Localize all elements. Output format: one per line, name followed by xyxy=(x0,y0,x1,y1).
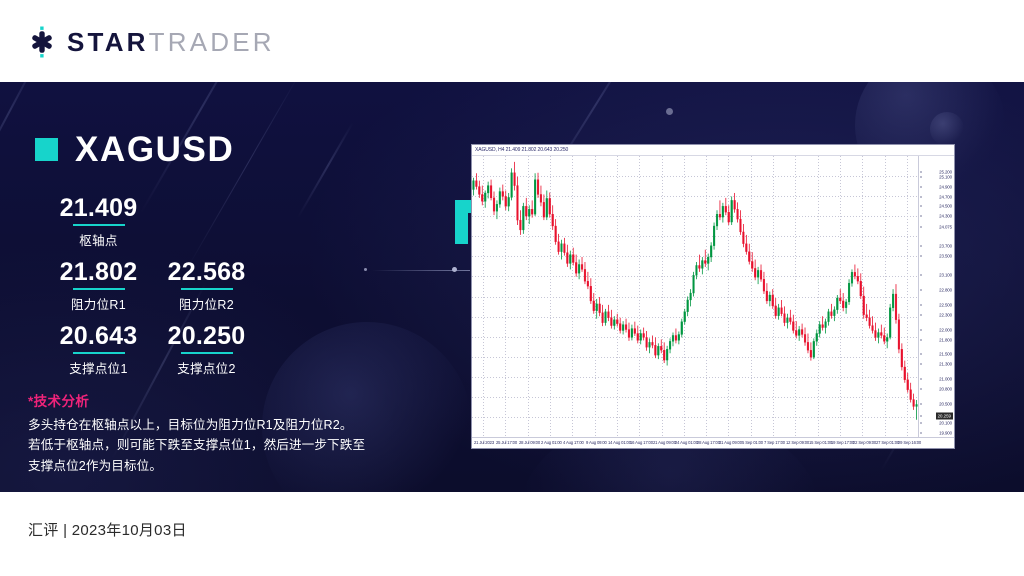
brand-name-light: TRADER xyxy=(149,27,275,57)
price-tick: 21.000 xyxy=(939,376,952,381)
chart-time-axis[interactable]: 21 Jul 202325 Jul 17:0028 Jul 09:002 Aug… xyxy=(472,437,954,448)
time-tick: 4 Aug 17:00 xyxy=(563,440,584,446)
price-tick-dash xyxy=(920,339,922,340)
price-tick: 23.500 xyxy=(939,253,952,258)
price-tick: 23.700 xyxy=(939,243,952,248)
price-tick: 22.300 xyxy=(939,312,952,317)
chart-title-bar: XAGUSD, H4 21.409 21.802 20.643 20.250 xyxy=(472,145,954,156)
price-tick-dash xyxy=(920,176,922,177)
instrument-symbol: XAGUSD xyxy=(75,132,234,167)
decor-orb-small xyxy=(930,112,964,146)
time-tick: 29 Sep 16:00 xyxy=(898,440,921,446)
brand-wordmark: STARTRADER xyxy=(67,29,275,55)
time-tick: 15 Sep 01:00 xyxy=(809,440,832,446)
time-tick: 14 Aug 01:00 xyxy=(608,440,631,446)
stat-underline xyxy=(181,288,233,290)
price-tick-dash xyxy=(920,275,922,276)
price-tick-dash xyxy=(920,388,922,389)
analysis-body: 多头持仓在枢轴点以上，目标位为阻力位R1及阻力位R2。 若低于枢轴点，则可能下跌… xyxy=(28,415,400,476)
analysis-line-2: 若低于枢轴点，则可能下跌至支撑点位1，然后进一步下跌至 xyxy=(28,435,400,455)
price-tick: 24.900 xyxy=(939,184,952,189)
price-tick-dash xyxy=(920,206,922,207)
stat-s2-label: 支撑点位2 xyxy=(144,358,269,377)
price-tick: 21.500 xyxy=(939,352,952,357)
price-tick-dash xyxy=(920,403,922,404)
stat-r1-label: 阻力位R1 xyxy=(36,294,161,313)
time-tick: 9 Aug 09:00 xyxy=(586,440,607,446)
stat-underline xyxy=(73,288,125,290)
price-tick-dash xyxy=(920,354,922,355)
stat-r1-value: 21.802 xyxy=(36,259,161,286)
stat-pivot: 21.409 枢轴点 xyxy=(36,195,161,249)
price-tick-dash xyxy=(920,423,922,424)
price-tick-dash xyxy=(920,290,922,291)
brand-name-bold: STAR xyxy=(67,27,149,57)
technical-analysis: *技术分析 多头持仓在枢轴点以上，目标位为阻力位R1及阻力位R2。 若低于枢轴点… xyxy=(28,390,400,476)
price-tick: 20.100 xyxy=(939,421,952,426)
chart-plot-area xyxy=(472,156,918,437)
stat-pivot-value: 21.409 xyxy=(36,195,161,222)
time-tick: 16 Aug 17:00 xyxy=(630,440,653,446)
time-tick: 22 Sep 09:00 xyxy=(853,440,876,446)
stat-s1-label: 支撑点位1 xyxy=(36,358,161,377)
decor-dot xyxy=(452,267,457,272)
time-tick: 21 Aug 09:00 xyxy=(653,440,676,446)
stat-r2-value: 22.568 xyxy=(144,259,269,286)
candlestick-series xyxy=(472,156,918,437)
page-footer: 汇评 | 2023年10月03日 xyxy=(0,492,1024,576)
price-tick-dash xyxy=(920,227,922,228)
price-tick: 24.075 xyxy=(939,225,952,230)
price-chart[interactable]: XAGUSD, H4 21.409 21.802 20.643 20.250 2… xyxy=(471,144,955,449)
price-tick-dash xyxy=(920,329,922,330)
price-tick-dash xyxy=(920,171,922,172)
price-tick: 23.100 xyxy=(939,273,952,278)
time-tick: 28 Aug 17:00 xyxy=(697,440,720,446)
stat-s2-value: 20.250 xyxy=(144,323,269,350)
price-tick-dash xyxy=(920,378,922,379)
price-tick: 19.900 xyxy=(939,431,952,436)
price-tick-dash xyxy=(920,245,922,246)
time-tick: 5 Sep 01:00 xyxy=(742,440,763,446)
price-tick: 24.700 xyxy=(939,194,952,199)
time-tick: 31 Aug 09:00 xyxy=(719,440,742,446)
time-tick: 2 Aug 01:00 xyxy=(541,440,562,446)
time-tick: 19 Sep 17:00 xyxy=(831,440,854,446)
price-tick: 20.800 xyxy=(939,386,952,391)
price-tick-dash xyxy=(920,196,922,197)
asterisk-logo-icon xyxy=(26,26,58,58)
price-tick-dash xyxy=(920,255,922,256)
price-tick-dash xyxy=(920,314,922,315)
analysis-line-1: 多头持仓在枢轴点以上，目标位为阻力位R1及阻力位R2。 xyxy=(28,415,400,435)
stat-underline xyxy=(73,352,125,354)
instrument-title: XAGUSD xyxy=(35,132,234,167)
time-tick: 7 Sep 17:00 xyxy=(764,440,785,446)
poster-root: STARTRADER XAGUSD 21.409 xyxy=(0,0,1024,576)
price-tick: 24.500 xyxy=(939,204,952,209)
chart-price-axis[interactable]: 25.20025.10024.90024.70024.50024.30024.0… xyxy=(918,156,954,437)
price-tick: 20.500 xyxy=(939,401,952,406)
chart-frame: XAGUSD, H4 21.409 21.802 20.643 20.250 2… xyxy=(471,144,955,449)
footer-caption: 汇评 | 2023年10月03日 xyxy=(28,519,187,540)
price-tick: 22.000 xyxy=(939,327,952,332)
price-tick: 21.800 xyxy=(939,337,952,342)
instrument-marker-icon xyxy=(35,138,58,161)
price-tick: 22.500 xyxy=(939,303,952,308)
poster-body: XAGUSD 21.409 枢轴点 21.802 阻力位R1 22.568 阻力… xyxy=(0,82,1024,492)
time-tick: 21 Jul 2023 xyxy=(474,440,494,446)
analysis-line-3: 支撑点位2作为目标位。 xyxy=(28,456,400,476)
price-tick-dash xyxy=(920,186,922,187)
decor-dot xyxy=(666,108,673,115)
stat-s1-value: 20.643 xyxy=(36,323,161,350)
price-tick-dash xyxy=(920,305,922,306)
stat-support-2: 20.250 支撑点位2 xyxy=(144,323,269,377)
stat-underline xyxy=(73,224,125,226)
stat-resistance-1: 21.802 阻力位R1 xyxy=(36,259,161,313)
price-tick-dash xyxy=(920,216,922,217)
stat-pivot-label: 枢轴点 xyxy=(36,230,161,249)
stat-underline xyxy=(181,352,233,354)
price-tick: 21.300 xyxy=(939,362,952,367)
analysis-heading: *技术分析 xyxy=(28,390,400,410)
brand-logo: STARTRADER xyxy=(26,26,275,58)
price-tick: 24.300 xyxy=(939,214,952,219)
last-price-tag: 20.259 xyxy=(936,412,953,419)
price-tick-dash xyxy=(920,433,922,434)
page-header: STARTRADER xyxy=(0,0,1024,82)
stat-support-1: 20.643 支撑点位1 xyxy=(36,323,161,377)
price-tick-dash xyxy=(920,415,922,416)
price-tick: 22.800 xyxy=(939,288,952,293)
stat-r2-label: 阻力位R2 xyxy=(144,294,269,313)
time-tick: 12 Sep 09:00 xyxy=(786,440,809,446)
stat-resistance-2: 22.568 阻力位R2 xyxy=(144,259,269,313)
instrument-panel: XAGUSD 21.409 枢轴点 21.802 阻力位R1 22.568 阻力… xyxy=(0,82,440,492)
time-tick: 25 Jul 17:00 xyxy=(496,440,517,446)
price-tick: 25.100 xyxy=(939,174,952,179)
price-tick-dash xyxy=(920,364,922,365)
time-tick: 27 Sep 01:00 xyxy=(876,440,899,446)
time-tick: 28 Jul 09:00 xyxy=(519,440,540,446)
time-tick: 24 Aug 01:00 xyxy=(675,440,698,446)
